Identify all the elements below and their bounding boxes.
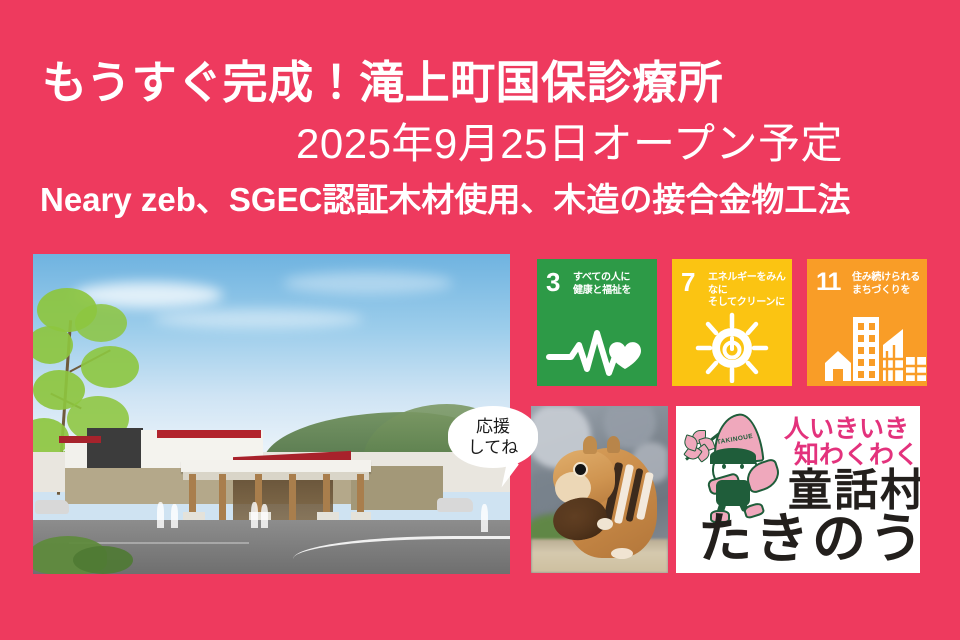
mascot-eye [740, 464, 744, 469]
entrance-canopy-soffit [183, 472, 369, 480]
clinic-render-photo [33, 254, 510, 574]
cloud [283, 272, 453, 294]
chipmunk-ear [607, 436, 620, 453]
chipmunk-eye [575, 464, 586, 475]
sdg-label-line2: まちづくりを [852, 285, 920, 298]
figure [157, 502, 164, 528]
sdg-label-line2: そしてクリーンに [708, 297, 792, 310]
mascot-eye [722, 464, 726, 469]
sdg-number: 7 [681, 269, 695, 295]
fairy-mascot-icon: TAKINOUE [682, 412, 786, 512]
figure [251, 502, 258, 528]
sdg-goal-3[interactable]: 3 すべての人に 健康と福祉を [537, 259, 657, 386]
city-buildings-icon [807, 311, 927, 383]
sdg-icons-row: 3 すべての人に 健康と福祉を 7 エネルギーをみんなに そしてクリーンに [537, 259, 937, 386]
logo-tagline-line2: 知わくわく [794, 442, 919, 469]
speech-bubble-line1: 応援 [476, 416, 510, 437]
wood-column [289, 474, 296, 526]
sdg-goal-7[interactable]: 7 エネルギーをみんなに そしてクリーンに [672, 259, 792, 386]
sdg-label: すべての人に 健康と福祉を [573, 272, 631, 297]
sdg-label: 住み続けられる まちづくりを [852, 272, 920, 297]
chipmunk-ear [583, 436, 597, 454]
logo-title-bottom: たきのうえ [698, 510, 920, 568]
shrub [73, 546, 133, 574]
sun-power-icon [672, 311, 792, 383]
chipmunk-paw [597, 518, 613, 530]
cloud [153, 309, 363, 329]
takinoue-logo-card: TAKINOUE 人いきいき 知わくわく 童話村 たきのうえ [676, 406, 920, 573]
cherry-blossom-icon [684, 430, 712, 458]
red-roof-accent [157, 430, 261, 438]
parked-car [437, 498, 473, 512]
heartbeat-heart-icon [537, 311, 657, 383]
entrance-canopy [181, 460, 371, 472]
figure [261, 504, 268, 528]
logo-title-middle: 童話村 [788, 468, 920, 514]
sdg-label-line1: エネルギーをみんなに [708, 272, 792, 297]
figure [171, 504, 178, 528]
parked-car [35, 500, 69, 514]
sdg-label-line2: 健康と福祉を [573, 285, 631, 298]
sdg-label-line1: すべての人に [573, 272, 631, 285]
sdg-label-line1: 住み続けられる [852, 272, 920, 285]
sdg-label: エネルギーをみんなに そしてクリーンに [708, 272, 792, 310]
page-title: もうすぐ完成！滝上町国保診療所 [42, 58, 723, 108]
sdg-number: 11 [816, 269, 840, 295]
features-text: Neary zeb、SGEC認証木材使用、木造の接合金物工法 [40, 181, 850, 219]
wood-column [219, 474, 226, 526]
logo-tagline-line1: 人いきいき [784, 416, 909, 443]
mascot-hair [710, 448, 756, 464]
figure [481, 504, 488, 532]
opening-date-text: 2025年9月25日オープン予定 [296, 121, 843, 167]
red-roof-accent [59, 436, 101, 443]
poster-canvas: もうすぐ完成！滝上町国保診療所 2025年9月25日オープン予定 Neary z… [0, 0, 960, 640]
chipmunk-paw [611, 548, 633, 559]
speech-bubble-line2: してね [468, 437, 519, 458]
speech-bubble: 応援 してね [448, 406, 538, 468]
sdg-goal-11[interactable]: 11 住み続けられる まちづくりを [807, 259, 927, 386]
sdg-number: 3 [546, 269, 560, 295]
chipmunk-photo [531, 406, 668, 573]
